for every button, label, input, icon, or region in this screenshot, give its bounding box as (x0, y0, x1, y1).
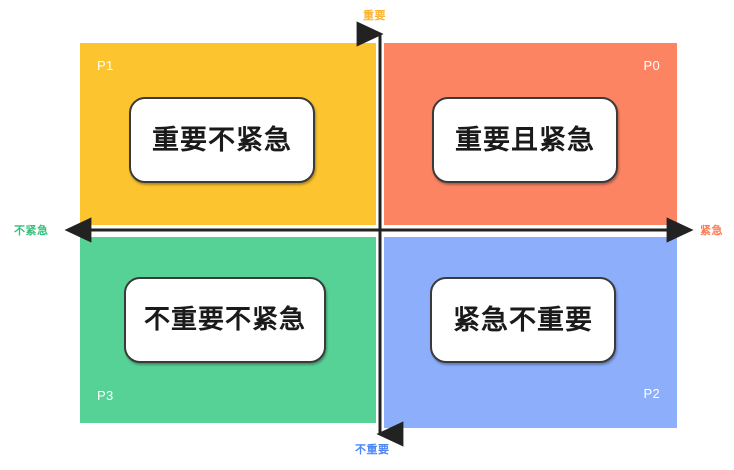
quadrant-code-p0: P0 (643, 58, 660, 73)
quadrant-card-p1: 重要不紧急 (129, 97, 315, 183)
quadrant-code-p2: P2 (643, 386, 660, 401)
quadrant-card-p3: 不重要不紧急 (124, 277, 326, 363)
quadrant-card-p0: 重要且紧急 (432, 97, 618, 183)
axis-label-not-important: 不重要 (355, 441, 390, 457)
priority-matrix-diagram: P1 P0 P3 P2 重要不紧急 重要且紧急 不重要不紧急 紧急不重要 (0, 0, 734, 470)
quadrant-code-p3: P3 (97, 388, 114, 403)
axis-label-important: 重要 (363, 7, 386, 23)
quadrant-code-p1: P1 (97, 58, 114, 73)
axis-label-urgent: 紧急 (700, 222, 723, 238)
axis-label-not-urgent: 不紧急 (14, 222, 49, 238)
quadrant-label-p0: 重要且紧急 (455, 127, 595, 154)
quadrant-card-p2: 紧急不重要 (430, 277, 616, 363)
quadrant-label-p1: 重要不紧急 (152, 127, 292, 154)
quadrant-label-p2: 紧急不重要 (453, 307, 593, 334)
quadrant-label-p3: 不重要不紧急 (144, 307, 306, 333)
